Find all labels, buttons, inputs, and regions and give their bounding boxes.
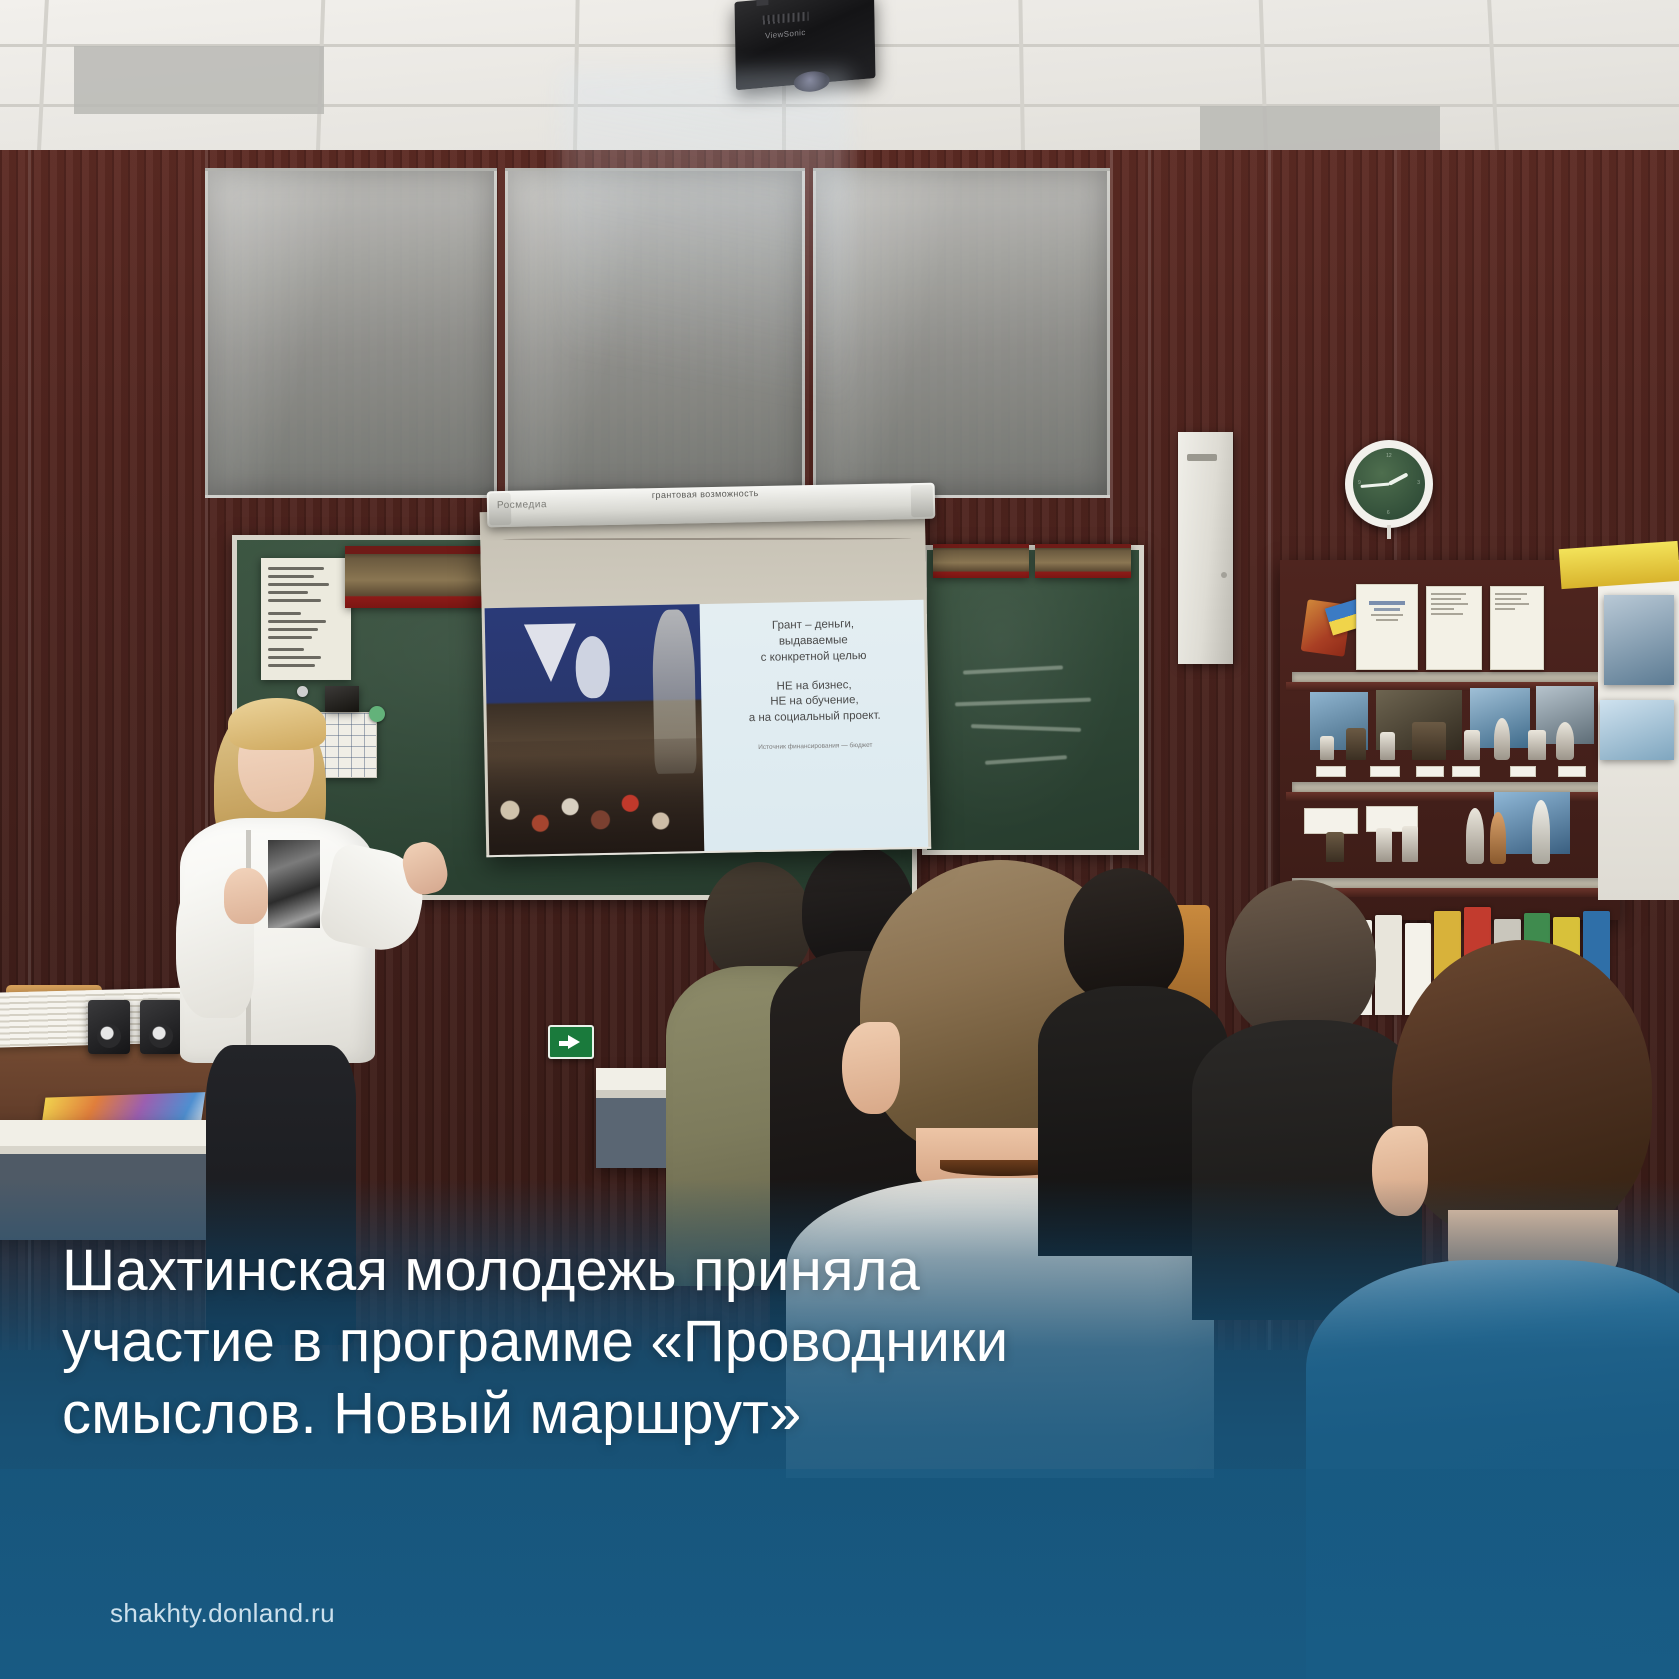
exhibit-tag (1416, 766, 1444, 777)
clock-face: 12 3 6 9 (1353, 448, 1425, 520)
exhibit-tag (1510, 766, 1536, 777)
certificate (1426, 586, 1482, 670)
upper-window-band (205, 168, 1110, 498)
certificate (1356, 584, 1418, 670)
headline: Шахтинская молодежь приняла участие в пр… (62, 1235, 1589, 1449)
exhibit-tag (1558, 766, 1586, 777)
chalkboard-right (922, 545, 1144, 855)
certificate (1490, 586, 1544, 670)
projector: ViewSonic (734, 0, 875, 90)
clock-hour-hand (1388, 472, 1408, 485)
presenter-hand (224, 868, 268, 924)
history-poster (933, 544, 1029, 578)
display-cabinet (1280, 560, 1620, 920)
slide-text: Грант – деньги, выдаваемые с конкретной … (700, 600, 929, 852)
screen-brand-label: Росмедиа (497, 499, 547, 511)
ear (1372, 1126, 1428, 1216)
slide-text-block-2: НЕ на бизнес, НЕ на обучение, а на социа… (748, 677, 881, 727)
blue-footer-band (0, 1469, 1679, 1679)
slide-line: а на социальный проект. (749, 709, 881, 727)
exhibit-tag (1316, 766, 1346, 777)
slide: Грант – деньги, выдаваемые с конкретной … (485, 600, 929, 856)
wall-photo (1600, 700, 1674, 760)
news-card: ViewSonic (0, 0, 1679, 1679)
slide-fine-print: Источник финансирования — бюджет (758, 742, 872, 753)
slide-text-block-1: Грант – деньги, выдаваемые с конкретной … (760, 617, 867, 667)
slide-line: с конкретной целью (761, 649, 867, 667)
exhibit-tag (1452, 766, 1480, 777)
wall-cabinet-strip (1178, 432, 1233, 664)
computer-speaker (88, 1000, 130, 1054)
wall-clock: 12 3 6 9 (1345, 440, 1433, 528)
ear (842, 1022, 900, 1114)
slide-photo (485, 604, 705, 856)
exhibit-tag (1304, 808, 1358, 834)
site-url: shakhty.donland.ru (110, 1598, 335, 1629)
clock-minute-hand (1360, 483, 1389, 489)
projector-vent (763, 12, 809, 25)
announcement-sheet (261, 558, 351, 680)
projection-screen: Грант – деньги, выдаваемые с конкретной … (480, 504, 932, 857)
projector-brand-label: ViewSonic (765, 28, 806, 41)
wall-photo (1604, 595, 1674, 685)
exhibit-tag (1370, 766, 1400, 777)
slide-line: Грант – деньги, (760, 617, 866, 635)
headline-line-2: участие в программе «Проводники (62, 1306, 1589, 1377)
emergency-exit-sign (548, 1025, 594, 1059)
headline-line-1: Шахтинская молодежь приняла (62, 1235, 1589, 1306)
classroom-banner (1559, 541, 1679, 589)
shirt-graphic (268, 840, 320, 928)
history-poster (1035, 544, 1131, 578)
headline-line-3: смыслов. Новый маршрут» (62, 1378, 1589, 1449)
projector-mount (756, 0, 768, 6)
screen-case-title: грантовая возможность (652, 488, 759, 500)
